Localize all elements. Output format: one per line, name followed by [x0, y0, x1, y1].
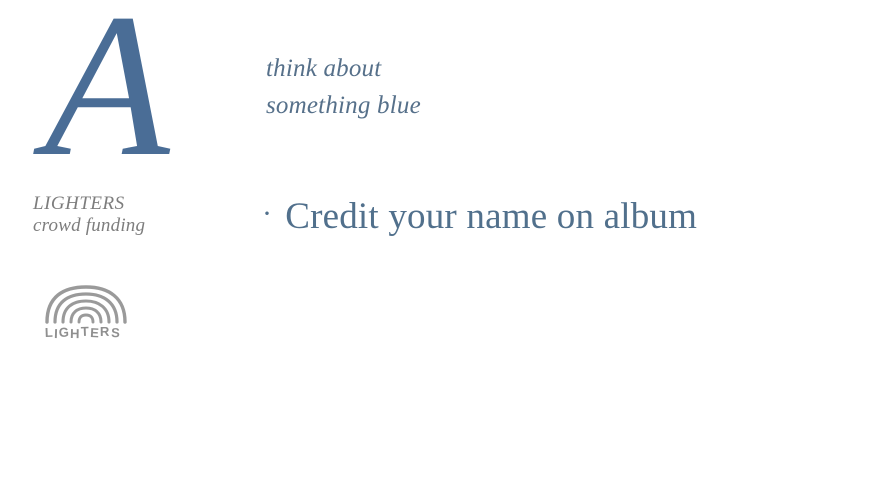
tagline-line-1: think about [266, 50, 421, 87]
tagline-line-2: something blue [266, 87, 421, 124]
headline-text: Credit your name on album [285, 194, 697, 240]
tagline: think about something blue [266, 50, 421, 124]
drop-cap-letter: A [32, 0, 182, 176]
headline-row: · Credit your name on album [262, 194, 697, 240]
svg-text:T: T [81, 324, 90, 339]
brand-name: LIGHTERS [33, 193, 125, 214]
svg-text:G: G [58, 324, 69, 340]
svg-text:H: H [70, 326, 80, 340]
bullet-point-icon: · [262, 199, 272, 229]
svg-text:E: E [90, 325, 100, 340]
slide-canvas: A LIGHTERS crowd funding L I G H T [0, 0, 895, 503]
brand-subtitle: crowd funding [33, 215, 145, 236]
svg-text:R: R [100, 324, 110, 339]
brand-column: A LIGHTERS crowd funding L I G H T [0, 0, 250, 503]
rainbow-arcs-logo-icon: L I G H T E R S [41, 284, 139, 340]
svg-text:L: L [45, 325, 54, 340]
svg-text:S: S [111, 325, 121, 340]
